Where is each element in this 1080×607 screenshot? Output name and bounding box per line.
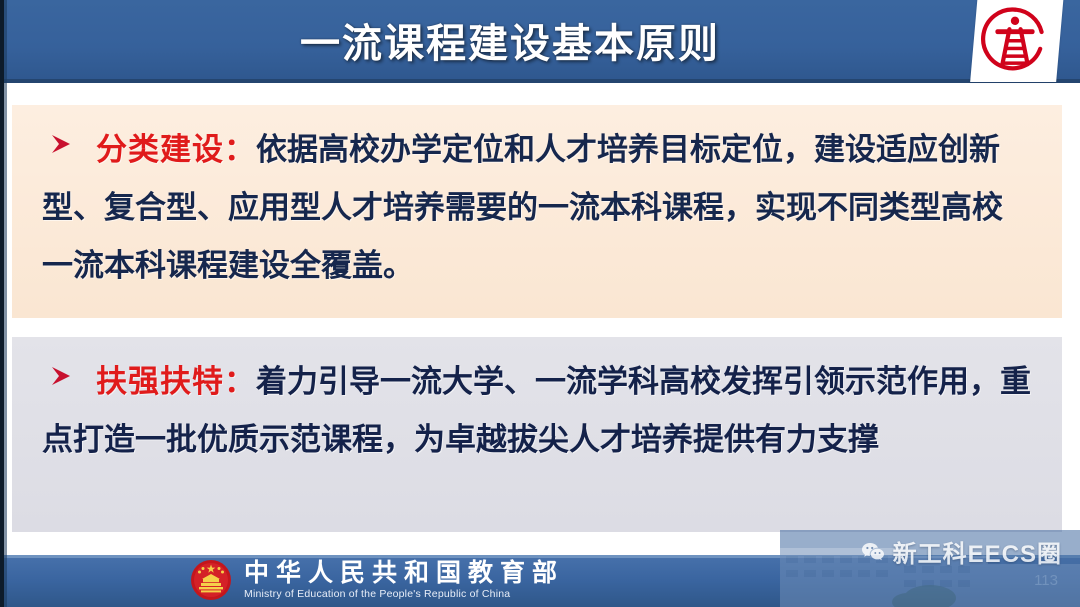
bullet-paragraph-2: 扶强扶特：着力引导一流大学、一流学科高校发挥引领示范作用，重点打造一批优质示范课… (42, 353, 1032, 469)
ministry-name-en: Ministry of Education of the People's Re… (244, 588, 564, 601)
arrow-bullet-icon (48, 363, 74, 389)
slide-canvas: 一流课程建设基本原则 分 (0, 0, 1080, 607)
china-national-emblem-icon (190, 559, 232, 601)
content-box-support-strong: 扶强扶特：着力引导一流大学、一流学科高校发挥引领示范作用，重点打造一批优质示范课… (12, 337, 1062, 532)
bullet-block-1: 分类建设：依据高校办学定位和人才培养目标定位，建设适应创新型、复合型、应用型人才… (12, 105, 1062, 305)
wechat-icon (860, 539, 886, 565)
bullet-block-2: 扶强扶特：着力引导一流大学、一流学科高校发挥引领示范作用，重点打造一批优质示范课… (12, 337, 1062, 479)
content-box-classification: 分类建设：依据高校办学定位和人才培养目标定位，建设适应创新型、复合型、应用型人才… (12, 105, 1062, 318)
arrow-bullet-icon (48, 131, 74, 157)
ministry-of-education-brand: 中华人民共和国教育部 Ministry of Education of the … (190, 559, 564, 601)
bullet-keyword-1: 分类建设： (96, 132, 256, 167)
bullet-keyword-2: 扶强扶特： (96, 364, 256, 399)
channel-watermark: 新工科EECS圈 (860, 534, 1062, 569)
watermark-text: 新工科EECS圈 (893, 534, 1062, 569)
bullet-paragraph-1: 分类建设：依据高校办学定位和人才培养目标定位，建设适应创新型、复合型、应用型人才… (42, 121, 1032, 295)
header-divider-rule (0, 79, 1080, 83)
page-number: 113 (1034, 572, 1058, 589)
left-edge-strip-secondary (4, 0, 7, 607)
red-circular-tower-emblem-icon (980, 4, 1050, 74)
slide-title: 一流课程建设基本原则 (0, 0, 1080, 79)
ministry-name-cn: 中华人民共和国教育部 (244, 560, 564, 587)
